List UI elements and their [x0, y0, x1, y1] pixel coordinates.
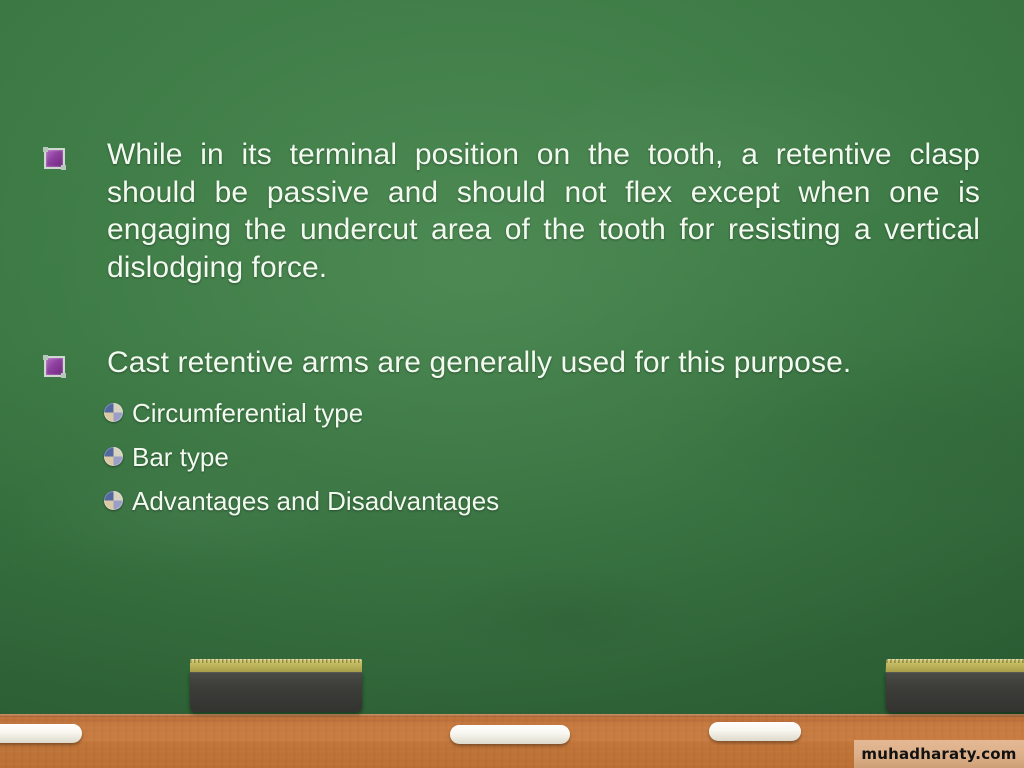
- paragraph-block-1: While in its terminal position on the to…: [44, 136, 980, 286]
- watermark-text: muhadharaty.com: [861, 745, 1016, 763]
- eraser-body: [190, 672, 362, 712]
- chalkboard-slide: While in its terminal position on the to…: [0, 0, 1024, 768]
- sub-bullet-label: Bar type: [132, 442, 229, 472]
- chalk-stick-1: [0, 724, 82, 743]
- list-item: Advantages and Disadvantages: [104, 486, 980, 516]
- eraser-felt: [190, 659, 362, 672]
- paragraph-text-1: While in its terminal position on the to…: [107, 136, 980, 286]
- chalkboard-eraser-right: [886, 659, 1024, 712]
- ledge-lip: [0, 714, 1024, 717]
- paragraph-text-2: Cast retentive arms are generally used f…: [107, 344, 980, 382]
- pinwheel-bullet-icon: [104, 491, 123, 510]
- list-item: Circumferential type: [104, 398, 980, 428]
- chalk-stick-3: [709, 722, 801, 741]
- pinwheel-bullet-icon: [104, 403, 123, 422]
- purple-square-bullet-icon: [44, 356, 65, 377]
- sub-bullet-list: Circumferential type Bar type Advantages…: [104, 398, 980, 516]
- sub-bullet-label: Advantages and Disadvantages: [132, 486, 499, 516]
- sub-bullet-label: Circumferential type: [132, 398, 363, 428]
- watermark-badge: muhadharaty.com: [854, 740, 1024, 768]
- eraser-felt: [886, 659, 1024, 672]
- chalk-stick-2: [450, 725, 570, 744]
- paragraph-block-2: Cast retentive arms are generally used f…: [44, 344, 980, 382]
- pinwheel-bullet-icon: [104, 447, 123, 466]
- slide-content: While in its terminal position on the to…: [44, 136, 980, 532]
- eraser-body: [886, 672, 1024, 712]
- purple-square-bullet-icon: [44, 148, 65, 169]
- list-item: Bar type: [104, 442, 980, 472]
- chalkboard-eraser-left: [190, 659, 362, 712]
